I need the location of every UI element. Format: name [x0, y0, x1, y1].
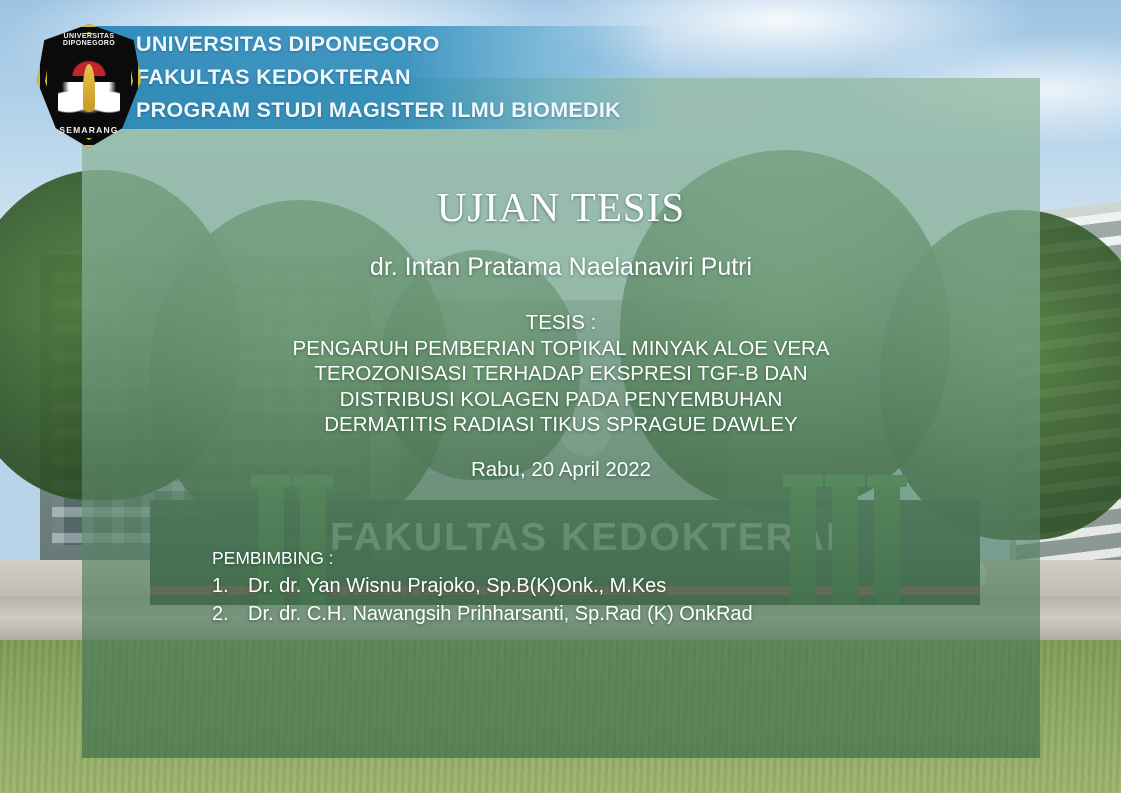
thesis-title-line: DISTRIBUSI KOLAGEN PADA PENYEMBUHAN: [82, 387, 1040, 413]
advisor-name: Dr. dr. Yan Wisnu Prajoko, Sp.B(K)Onk., …: [248, 572, 666, 600]
author-name: dr. Intan Pratama Naelanaviri Putri: [82, 253, 1040, 282]
thesis-title-line: PENGARUH PEMBERIAN TOPIKAL MINYAK ALOE V…: [82, 336, 1040, 362]
advisor-name: Dr. dr. C.H. Nawangsih Prihharsanti, Sp.…: [248, 600, 753, 628]
advisors-label: PEMBIMBING :: [212, 546, 1012, 570]
list-item: 2. Dr. dr. C.H. Nawangsih Prihharsanti, …: [212, 600, 1012, 628]
logo-arc-top-text: UNIVERSITAS DIPONEGORO: [37, 33, 141, 47]
announcement-content: UJIAN TESIS dr. Intan Pratama Naelanavir…: [82, 78, 1040, 758]
header-line-university: UNIVERSITAS DIPONEGORO: [136, 28, 621, 61]
thesis-label: TESIS :: [82, 310, 1040, 336]
thesis-title-line: DERMATITIS RADIASI TIKUS SPRAGUE DAWLEY: [82, 412, 1040, 438]
page-title: UJIAN TESIS: [82, 183, 1040, 231]
advisors-section: PEMBIMBING : 1. Dr. dr. Yan Wisnu Prajok…: [212, 546, 1012, 628]
thesis-title-block: TESIS : PENGARUH PEMBERIAN TOPIKAL MINYA…: [82, 310, 1040, 438]
advisor-number: 1.: [212, 572, 234, 600]
advisor-number: 2.: [212, 600, 234, 628]
list-item: 1. Dr. dr. Yan Wisnu Prajoko, Sp.B(K)Onk…: [212, 572, 1012, 600]
thesis-title-line: TEROZONISASI TERHADAP EKSPRESI TGF-B DAN: [82, 361, 1040, 387]
exam-date: Rabu, 20 April 2022: [82, 458, 1040, 482]
advisors-list: 1. Dr. dr. Yan Wisnu Prajoko, Sp.B(K)Onk…: [212, 572, 1012, 628]
